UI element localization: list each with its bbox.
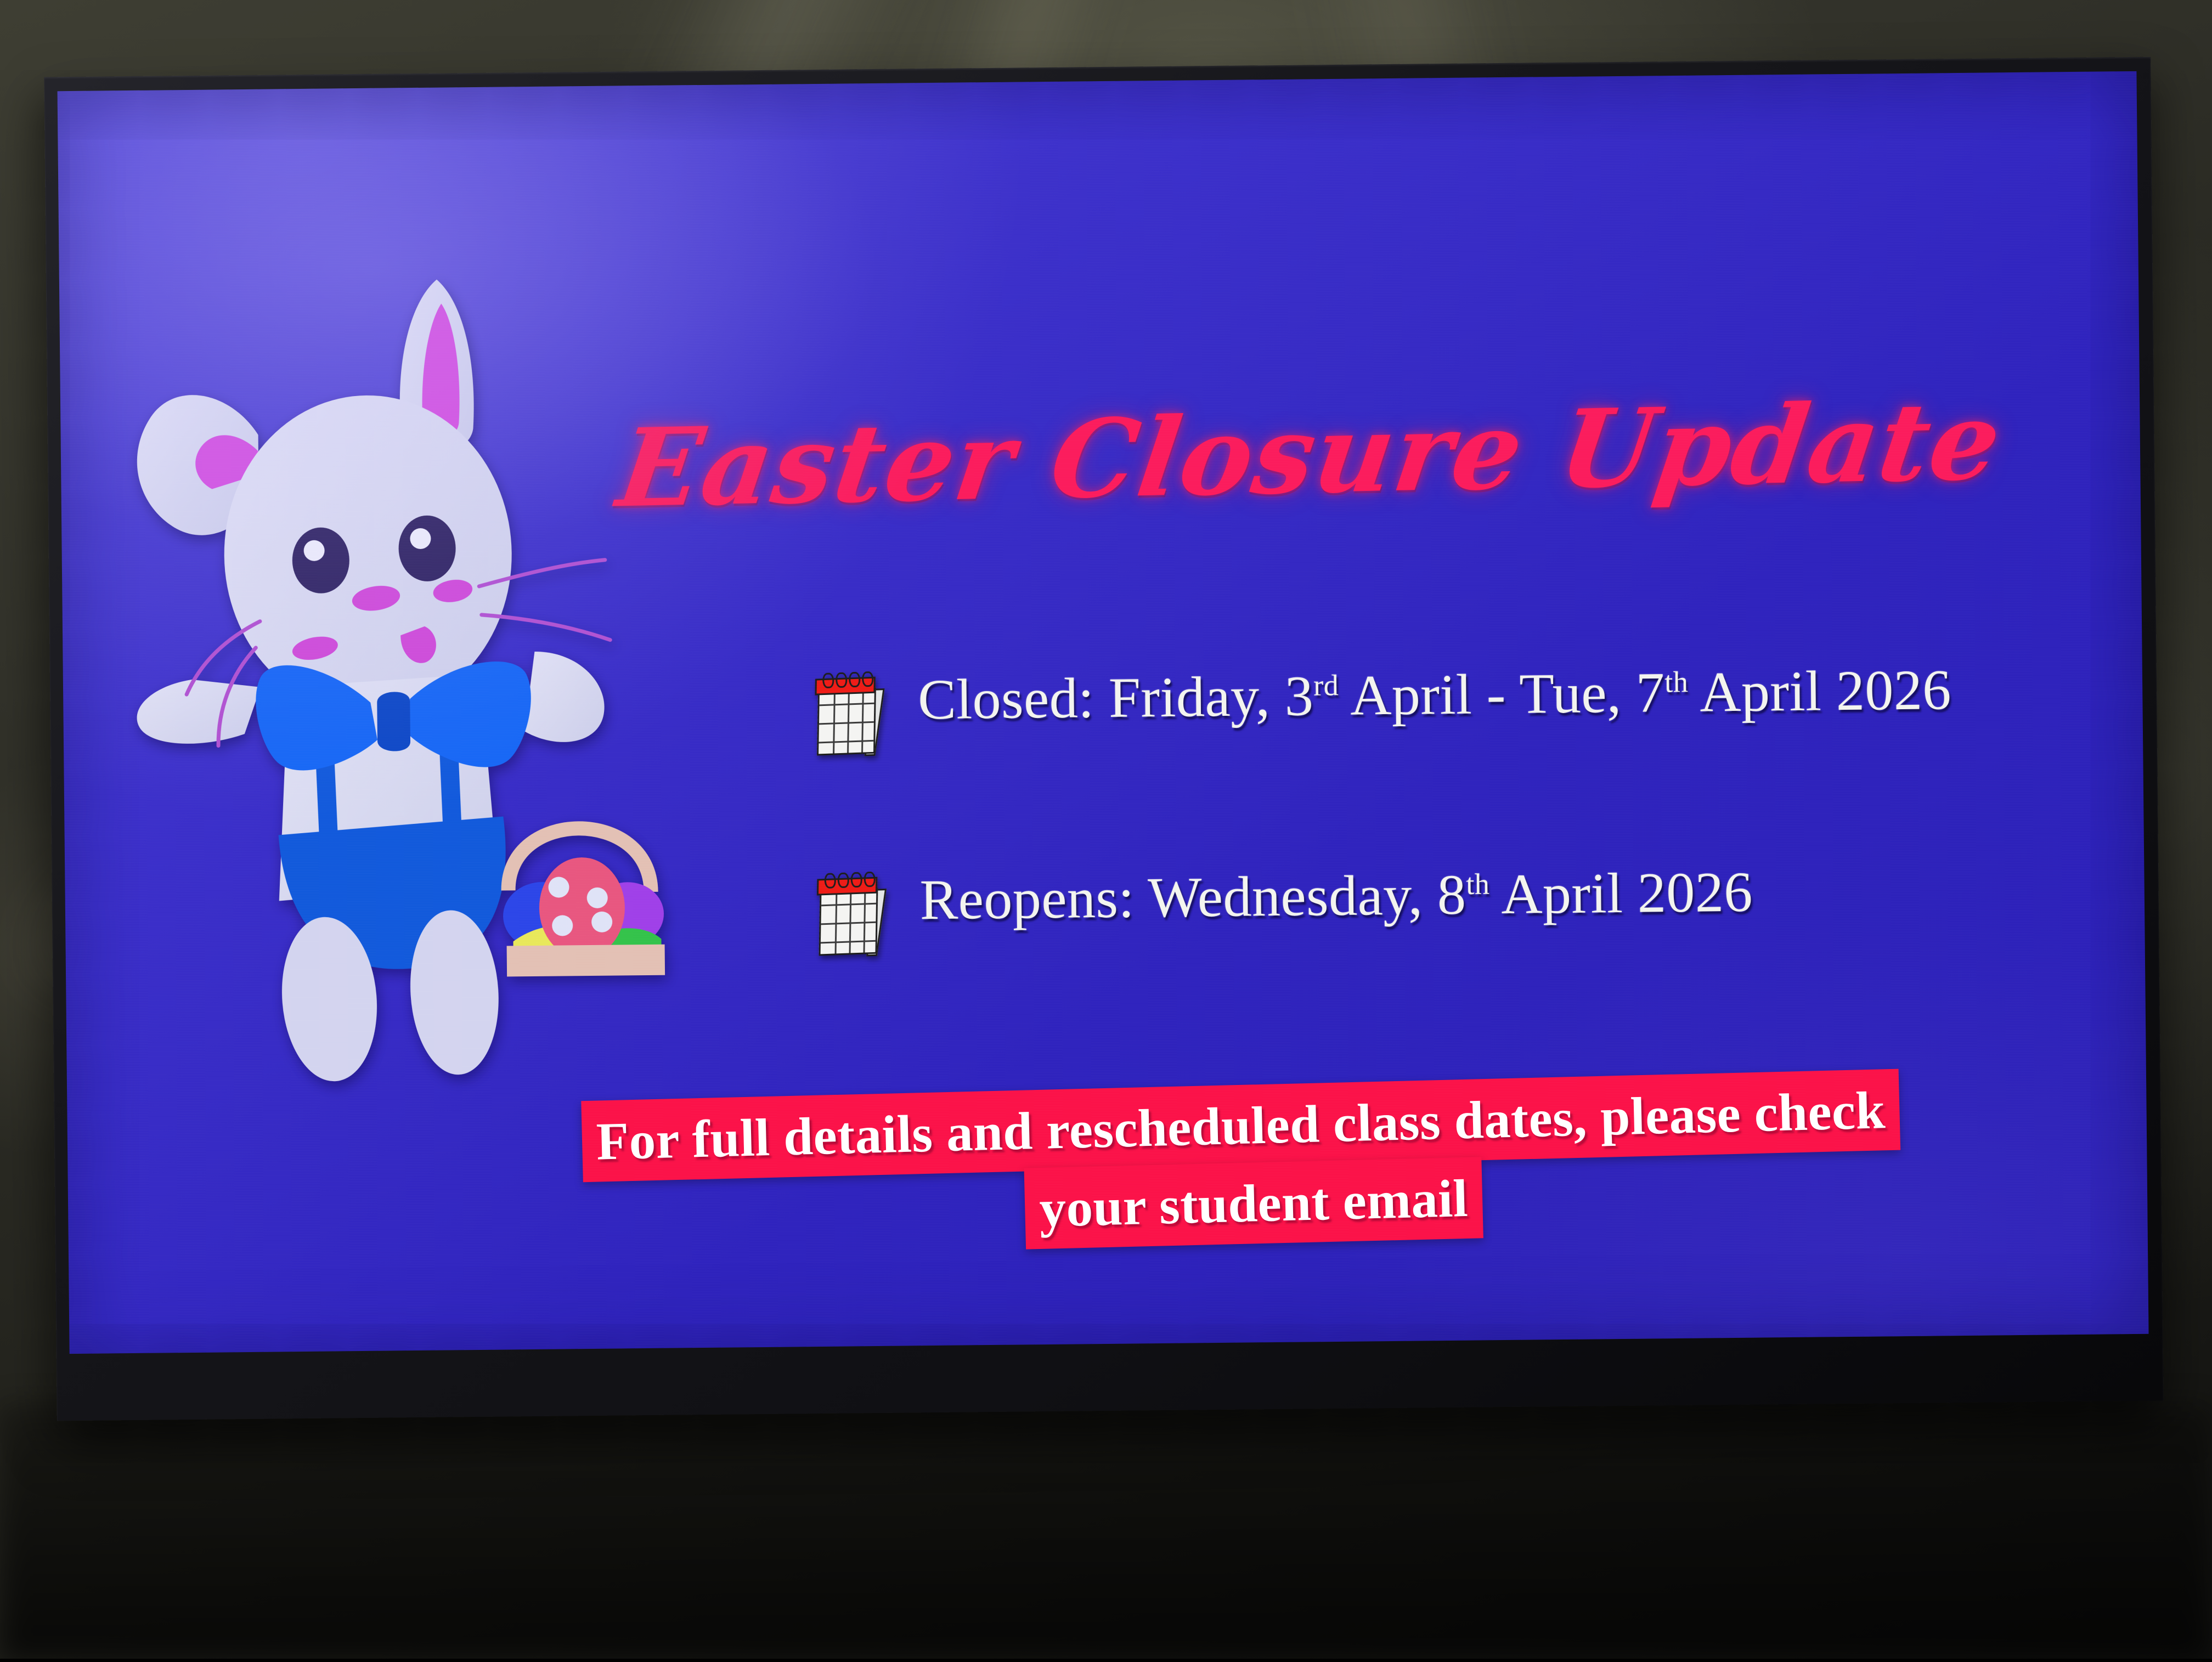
bunny-arm-right [523,651,605,743]
television-display: Easter Closure Update [44,57,2163,1421]
list-item: Reopens: Wednesday, 8th April 2026 [816,856,2095,957]
egg-dot [587,887,608,908]
footer-line-2: your student email [1024,1157,1483,1249]
reopens-ordinal-1: th [1466,868,1490,901]
page-title: Easter Closure Update [612,389,1880,522]
reopens-prefix: Reopens: Wednesday, 8 [919,863,1466,932]
closed-prefix: Closed: Friday, 3 [918,664,1314,731]
list-item: Closed: Friday, 3rd April - Tue, 7th Apr… [815,656,2093,757]
egg-dot [548,877,569,897]
list-item-text: Reopens: Wednesday, 8th April 2026 [919,860,1753,934]
easter-basket [503,828,665,977]
calendar-icon [815,873,884,958]
room-background: Easter Closure Update [0,0,2212,1659]
calendar-icon [814,673,882,757]
egg-dot [552,915,573,936]
reopens-middle: April 2026 [1489,861,1753,926]
bunny-arm-left [137,679,261,744]
easter-bunny-illustration [92,266,682,1149]
basket-base [507,945,665,977]
closed-ordinal-1: rd [1313,669,1339,702]
closed-suffix: April 2026 [1688,658,1951,724]
closed-ordinal-2: th [1664,665,1689,698]
list-item-text: Closed: Friday, 3rd April - Tue, 7th Apr… [918,657,1952,733]
tv-screen-area: Easter Closure Update [58,71,2149,1354]
presentation-slide: Easter Closure Update [58,71,2149,1354]
bunny-eye-left-highlight [303,540,324,561]
wall-shadow [0,1404,2212,1662]
egg-dot [591,912,612,932]
closed-middle: April - Tue, 7 [1339,661,1665,727]
footer-banner: For full details and rescheduled class d… [538,1067,1967,1262]
bunny-eye-right-highlight [410,528,431,549]
